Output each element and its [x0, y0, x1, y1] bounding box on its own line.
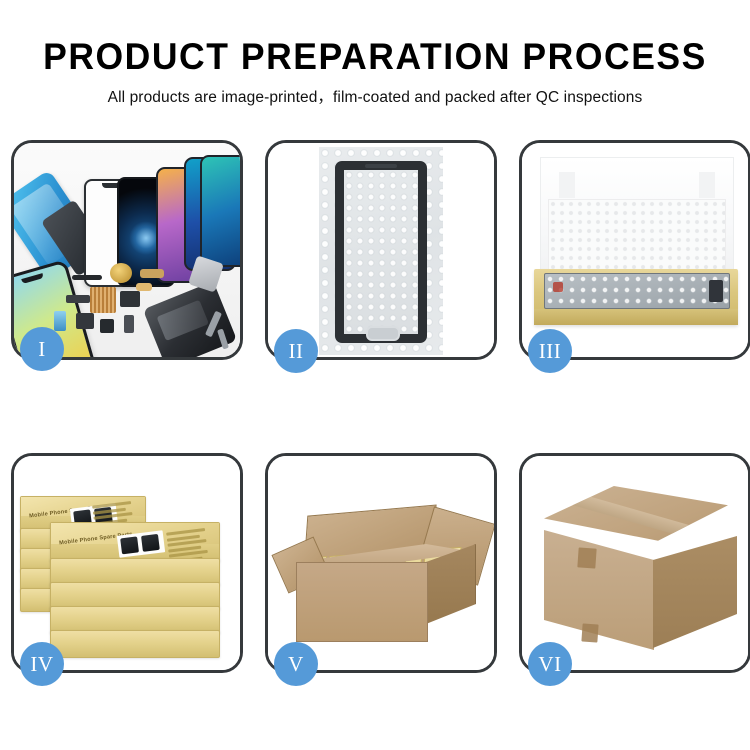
gold-contact-strip — [136, 283, 152, 291]
carton-left-face — [544, 526, 654, 650]
box-stack: Mobile Phone Spare Parts Mobile Phone Sp… — [14, 456, 240, 670]
speaker-module — [76, 313, 94, 329]
gold-flex-strip — [140, 269, 164, 278]
carton-front-face — [296, 562, 428, 642]
packing-tape — [570, 492, 718, 546]
teal-gradient-phone — [200, 155, 240, 267]
step-badge-6: VI — [528, 642, 572, 686]
thumb-phone-back — [141, 534, 160, 552]
stacked-box — [50, 630, 220, 658]
vibrator-motor — [110, 263, 132, 283]
open-carton-photo — [268, 456, 494, 670]
process-grid: I II — [11, 140, 739, 673]
process-step-2: II — [265, 140, 497, 360]
box-product-thumbnails — [117, 530, 165, 557]
step-6-image — [522, 456, 748, 670]
page-subtitle: All products are image-printed，film-coat… — [0, 88, 750, 107]
process-step-3: III — [519, 140, 750, 360]
antenna-strip — [66, 295, 90, 303]
step-3-image — [522, 143, 748, 357]
page-title: PRODUCT PREPARATION PROCESS — [15, 36, 735, 78]
step-4-image: Mobile Phone Spare Parts Mobile Phone Sp… — [14, 456, 240, 670]
kraft-tray — [534, 269, 738, 325]
step-1-image — [14, 143, 240, 357]
lid-flap-left — [559, 172, 575, 198]
bubble-wrap-photo — [268, 143, 494, 357]
step-badge-2: II — [274, 329, 318, 373]
wrapped-screen — [335, 161, 427, 343]
step-badge-5: V — [274, 642, 318, 686]
sealed-carton — [536, 486, 736, 654]
process-step-4: Mobile Phone Spare Parts Mobile Phone Sp… — [11, 453, 243, 673]
step-2-image — [268, 143, 494, 357]
stacked-box: Mobile Phone Spare Parts — [50, 522, 220, 562]
header: PRODUCT PREPARATION PROCESS All products… — [0, 0, 750, 107]
process-step-5: V — [265, 453, 497, 673]
open-box-photo — [522, 143, 748, 357]
parts-photo — [14, 143, 240, 357]
step-badge-3: III — [528, 329, 572, 373]
battery-cell — [54, 311, 66, 331]
gold-connector-chip — [90, 287, 116, 313]
carton-tab-lower — [581, 623, 598, 642]
infographic-page: PRODUCT PREPARATION PROCESS All products… — [0, 0, 750, 750]
flex-cable — [72, 275, 102, 280]
small-chip — [100, 319, 114, 333]
step-badge-4: IV — [20, 642, 64, 686]
step-5-image — [268, 456, 494, 670]
process-step-1: I — [11, 140, 243, 360]
lid-flap-right — [699, 172, 715, 198]
bubble-wrap-sheet — [319, 147, 443, 355]
carton-right-face — [653, 536, 737, 652]
sim-tray — [124, 315, 134, 333]
carton-tab-upper — [577, 547, 596, 568]
stacked-boxes-photo: Mobile Phone Spare Parts Mobile Phone Sp… — [14, 456, 240, 670]
process-step-6: VI — [519, 453, 750, 673]
sealed-carton-photo — [522, 456, 748, 670]
camera-module — [120, 291, 140, 307]
screen-in-tray — [544, 273, 730, 309]
step-badge-1: I — [20, 327, 64, 371]
open-carton — [284, 500, 480, 650]
thumb-phone-front — [120, 536, 139, 554]
